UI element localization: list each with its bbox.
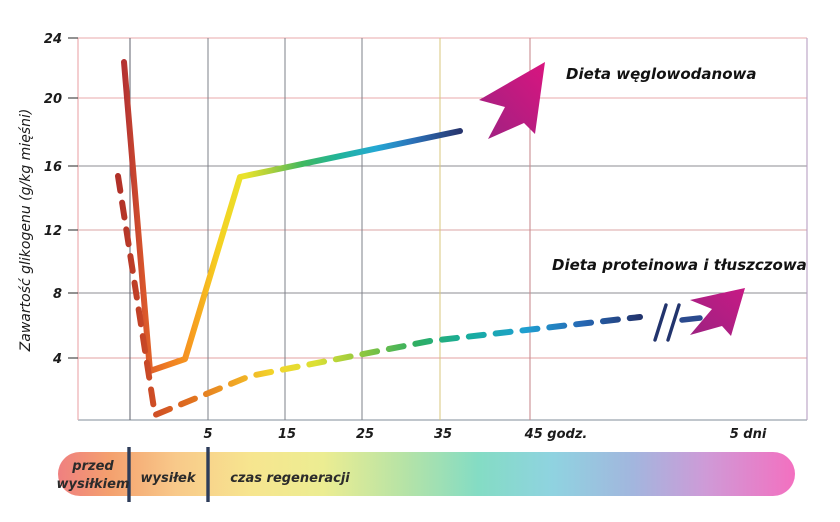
- phase-label-before-effort-line1: przed: [71, 459, 114, 474]
- x-tick-15: 15: [278, 427, 296, 442]
- x-axis-ticks: 5 15 25 35 45 godz. 5 dni: [203, 427, 766, 442]
- phase-label-effort: wysiłek: [140, 471, 196, 486]
- glycogen-chart: 24 20 16 12 8 4 Zawartość glikogenu (g/k…: [0, 0, 840, 522]
- y-tick-20: 20: [44, 92, 62, 107]
- protein-fat-diet-dash-tail: [682, 318, 700, 320]
- y-tick-4: 4: [52, 352, 62, 367]
- y-tick-8: 8: [53, 287, 62, 302]
- y-axis-title-text: Zawartość glikogenu (g/kg mięśni): [18, 109, 34, 353]
- x-tick-25: 25: [356, 427, 374, 442]
- y-tick-16: 16: [44, 160, 62, 175]
- y-tick-12: 12: [44, 224, 62, 239]
- axis-break-marks: [655, 305, 679, 340]
- x-tick-5dni: 5 dni: [730, 427, 767, 442]
- carbohydrate-diet-arrowhead: [479, 62, 545, 139]
- protein-fat-diet-line: [118, 176, 640, 415]
- phase-label-before-effort-line2: wysiłkiem: [56, 477, 129, 492]
- y-axis-title: Zawartość glikogenu (g/kg mięśni): [18, 109, 34, 353]
- annotation-carbohydrate-diet: Dieta węglowodanowa: [566, 65, 756, 83]
- y-axis-ticks: 24 20 16 12 8 4: [44, 32, 78, 367]
- protein-fat-diet-arrowhead: [690, 288, 745, 336]
- series-protein-fat-diet: [118, 176, 745, 415]
- x-tick-35: 35: [434, 427, 452, 442]
- carbohydrate-diet-line: [124, 62, 460, 371]
- y-tick-24: 24: [44, 32, 62, 47]
- annotation-protein-fat-diet: Dieta proteinowa i tłuszczowa: [552, 256, 807, 274]
- phase-label-recovery: czas regeneracji: [230, 471, 350, 486]
- x-tick-45godz: 45 godz.: [524, 427, 588, 442]
- x-tick-5: 5: [203, 427, 212, 442]
- grid-lines: [78, 38, 807, 420]
- series-carbohydrate-diet: [124, 62, 545, 371]
- phase-bar: przed wysiłkiem wysiłek czas regeneracji: [56, 447, 795, 502]
- chart-canvas: 24 20 16 12 8 4 Zawartość glikogenu (g/k…: [0, 0, 840, 522]
